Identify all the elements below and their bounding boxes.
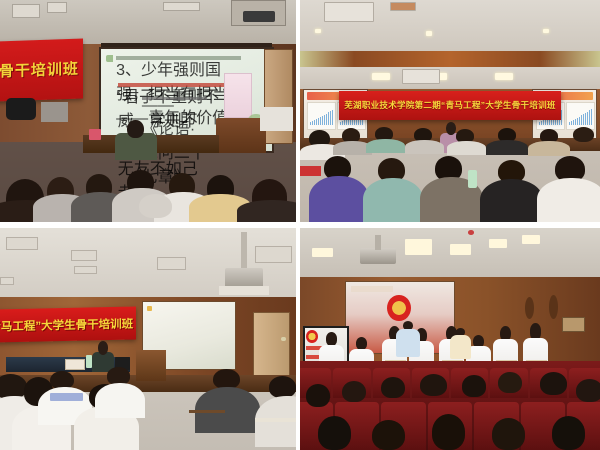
lecture-hall-wide-view-photo: 芜湖职业技术学院第二期“青马工程”大学生骨干培训班 [300, 0, 600, 222]
audience-head [576, 379, 600, 402]
audience-head [540, 372, 567, 395]
slide-quote: “君子不重则不威，学则不固。主忠信，无友不如己者。” [118, 83, 224, 87]
projector-icon [243, 11, 276, 22]
chair [41, 102, 68, 122]
audience-head [552, 416, 585, 450]
audience-head [269, 376, 296, 398]
audience-head [372, 420, 405, 450]
audience-shoulders [309, 176, 369, 222]
downlight-icon [315, 29, 321, 33]
slide-book-image [224, 73, 252, 118]
audience-white-shirt [95, 383, 145, 418]
student-blue-shirt [396, 321, 420, 357]
audience-area [0, 366, 296, 450]
photo-top-right: 芜湖职业技术学院第二期“青马工程”大学生骨干培训班 [300, 0, 600, 222]
photo-bottom-left: 二期“青马工程”大学生骨干培训班 [0, 228, 296, 450]
ceiling-light [74, 266, 97, 275]
air-conditioner-vent [157, 257, 186, 270]
photo-bottom-right [300, 228, 600, 450]
party-emblem-icon [387, 295, 411, 322]
attendee-white-shirt [260, 107, 293, 131]
ceiling-light [450, 244, 471, 255]
ceiling-light [372, 73, 390, 80]
ceiling-panel [390, 2, 416, 11]
ceiling-light [522, 235, 540, 244]
audience-shoulders [405, 140, 444, 154]
audience-head [381, 377, 405, 398]
notebook [255, 418, 296, 422]
shirt-back-print [50, 393, 83, 401]
ceiling-light [489, 239, 507, 248]
ceiling-light [312, 248, 333, 257]
door-handle-icon[interactable] [281, 337, 285, 341]
ceiling-panel [163, 2, 201, 11]
speaker-head [98, 341, 109, 354]
audience-head [462, 375, 486, 396]
audience-area [300, 122, 600, 222]
wall-hook [525, 297, 534, 319]
slide-quote-source: —— 《论语·宪问二十七章》 [142, 97, 207, 101]
audience-head [420, 374, 447, 396]
lecture-hall-speaker-seated-photo: 3、少年强则国强，担当有担当——青年的价值 “君子不重则不威，学则不固。主忠信，… [0, 0, 296, 222]
wall-hook [549, 295, 558, 319]
ceiling [300, 228, 600, 284]
audience-shoulders [363, 178, 423, 222]
audience-head [318, 416, 351, 450]
red-banner: 芜湖职业技术学院第二期“青马工程”大学生骨干培训班 [339, 91, 561, 120]
audience-shoulders [237, 200, 296, 222]
ceiling-light [71, 250, 97, 261]
water-bottle [468, 170, 477, 188]
ceiling-light [12, 4, 41, 17]
ceiling-light [405, 239, 432, 255]
ceiling-light [495, 73, 513, 80]
red-banner: 骨干培训班 [0, 38, 83, 101]
audience-shoulders [366, 139, 405, 153]
audience-head [139, 194, 172, 218]
air-conditioner-vent [255, 246, 293, 264]
photo-collage: 3、少年强则国强，担当有担当——青年的价值 “君子不重则不威，学则不固。主忠信，… [0, 0, 600, 450]
chair-back [6, 98, 36, 120]
audience-shoulders [486, 140, 528, 155]
audience-shoulders [528, 141, 570, 156]
air-conditioner-vent [324, 2, 374, 22]
slide-heading: 3、少年强则国强，担当有担当——青年的价值 [116, 56, 241, 60]
projector-plate [219, 286, 269, 295]
downlight-icon [543, 29, 549, 33]
audience-shoulders [480, 179, 543, 222]
audience-head [573, 127, 594, 142]
audience-head [498, 372, 522, 393]
staff-member [450, 328, 471, 359]
certificate-award-ceremony-photo [300, 228, 600, 450]
auditorium-seating [300, 361, 600, 450]
desk [189, 410, 225, 413]
ceiling-light [6, 237, 38, 250]
banner-text: 骨干培训班 [0, 38, 83, 101]
ceiling-light [47, 2, 67, 13]
projector-icon [360, 248, 396, 264]
banner-text: 二期“青马工程”大学生骨干培训班 [0, 306, 136, 342]
slide-bullet-icon [147, 306, 153, 311]
projector-mount-arm [241, 232, 247, 270]
banner-text: 芜湖职业技术学院第二期“青马工程”大学生骨干培训班 [339, 91, 561, 120]
ceiling-lower [300, 67, 600, 89]
projector-mount-arm [375, 235, 381, 251]
slide-bullet-icon [106, 55, 113, 62]
audience-head [306, 384, 330, 407]
audience-head [432, 414, 465, 450]
audience-head [342, 381, 366, 402]
photo-top-left: 3、少年强则国强，担当有担当——青年的价值 “君子不重则不威，学则不固。主忠信，… [0, 0, 296, 222]
ceiling-panel [0, 277, 14, 286]
audience-area [0, 129, 296, 222]
lecture-hall-angled-view-photo: 二期“青马工程”大学生骨干培训班 [0, 228, 296, 450]
audience-head [492, 418, 525, 450]
downlight-icon [426, 31, 432, 35]
wall-plaque [562, 317, 585, 332]
air-conditioner-vent [402, 69, 440, 84]
red-banner: 二期“青马工程”大学生骨干培训班 [0, 306, 136, 342]
audience-shoulders [537, 178, 600, 222]
slide-title-text [351, 286, 393, 293]
ceiling-beam [300, 51, 600, 67]
audience-shoulders [447, 141, 486, 155]
smoke-detector-icon [468, 230, 474, 234]
audience-red-shirt [300, 166, 321, 176]
